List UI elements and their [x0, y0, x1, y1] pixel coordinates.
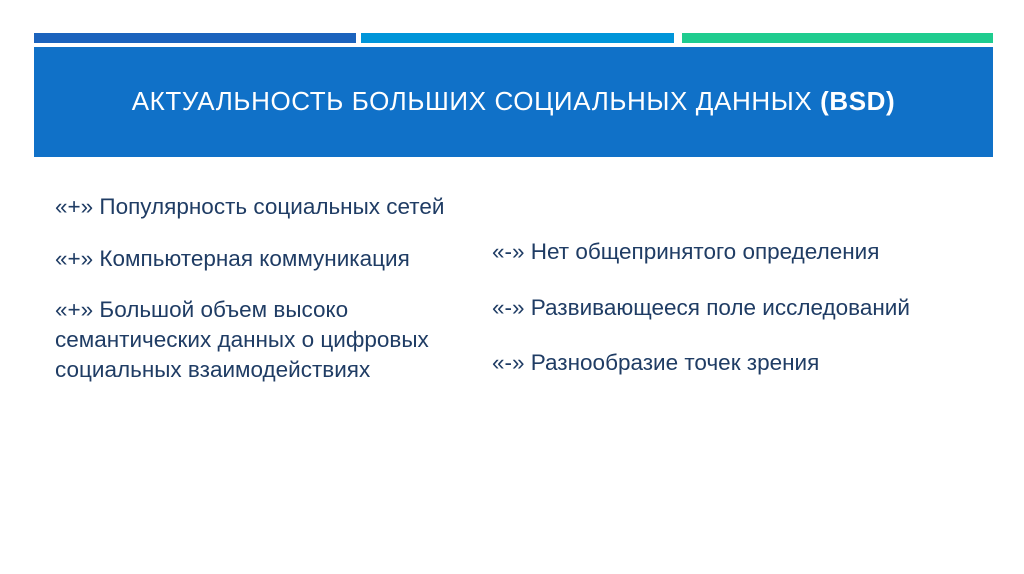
page-title: АКТУАЛЬНОСТЬ БОЛЬШИХ СОЦИАЛЬНЫХ ДАННЫХ (…	[132, 86, 896, 117]
list-item-text: Развивающееся поле исследований	[525, 295, 910, 320]
list-item-text: Большой объем высоко семантических данны…	[55, 297, 429, 381]
page-title-abbreviation: (BSD)	[820, 86, 895, 116]
list-item: «+» Компьютерная коммуникация	[55, 244, 460, 274]
bullet-marker-plus: «+»	[55, 194, 93, 219]
presentation-slide: АКТУАЛЬНОСТЬ БОЛЬШИХ СОЦИАЛЬНЫХ ДАННЫХ (…	[0, 0, 1024, 574]
list-item-text: Популярность социальных сетей	[93, 194, 444, 219]
bullet-marker-plus: «+»	[55, 297, 93, 322]
bullet-column-negative: «-» Нет общепринятого определения «-» Ра…	[470, 175, 970, 378]
bullet-marker-minus: «-»	[492, 350, 525, 375]
list-item-text: Нет общепринятого определения	[525, 239, 880, 264]
bullet-marker-plus: «+»	[55, 246, 93, 271]
list-item: «-» Разнообразие точек зрения	[492, 348, 960, 378]
bullet-marker-minus: «-»	[492, 239, 525, 264]
accent-bar-light-blue	[361, 33, 674, 43]
list-item-text: Разнообразие точек зрения	[525, 350, 820, 375]
list-item: «+» Большой объем высоко семантических д…	[55, 295, 460, 384]
slide-title-block: АКТУАЛЬНОСТЬ БОЛЬШИХ СОЦИАЛЬНЫХ ДАННЫХ (…	[34, 47, 993, 157]
slide-body: «+» Популярность социальных сетей «+» Ко…	[0, 175, 1024, 555]
bullet-column-positive: «+» Популярность социальных сетей «+» Ко…	[0, 175, 470, 384]
list-item-text: Компьютерная коммуникация	[93, 246, 410, 271]
list-item: «-» Нет общепринятого определения	[492, 237, 960, 267]
accent-bar-green	[682, 33, 993, 43]
list-item: «-» Развивающееся поле исследований	[492, 293, 960, 323]
list-item: «+» Популярность социальных сетей	[55, 192, 460, 222]
page-title-main: АКТУАЛЬНОСТЬ БОЛЬШИХ СОЦИАЛЬНЫХ ДАННЫХ	[132, 86, 820, 116]
accent-bar-blue	[34, 33, 356, 43]
accent-bar-row	[34, 33, 993, 43]
bullet-marker-minus: «-»	[492, 295, 525, 320]
